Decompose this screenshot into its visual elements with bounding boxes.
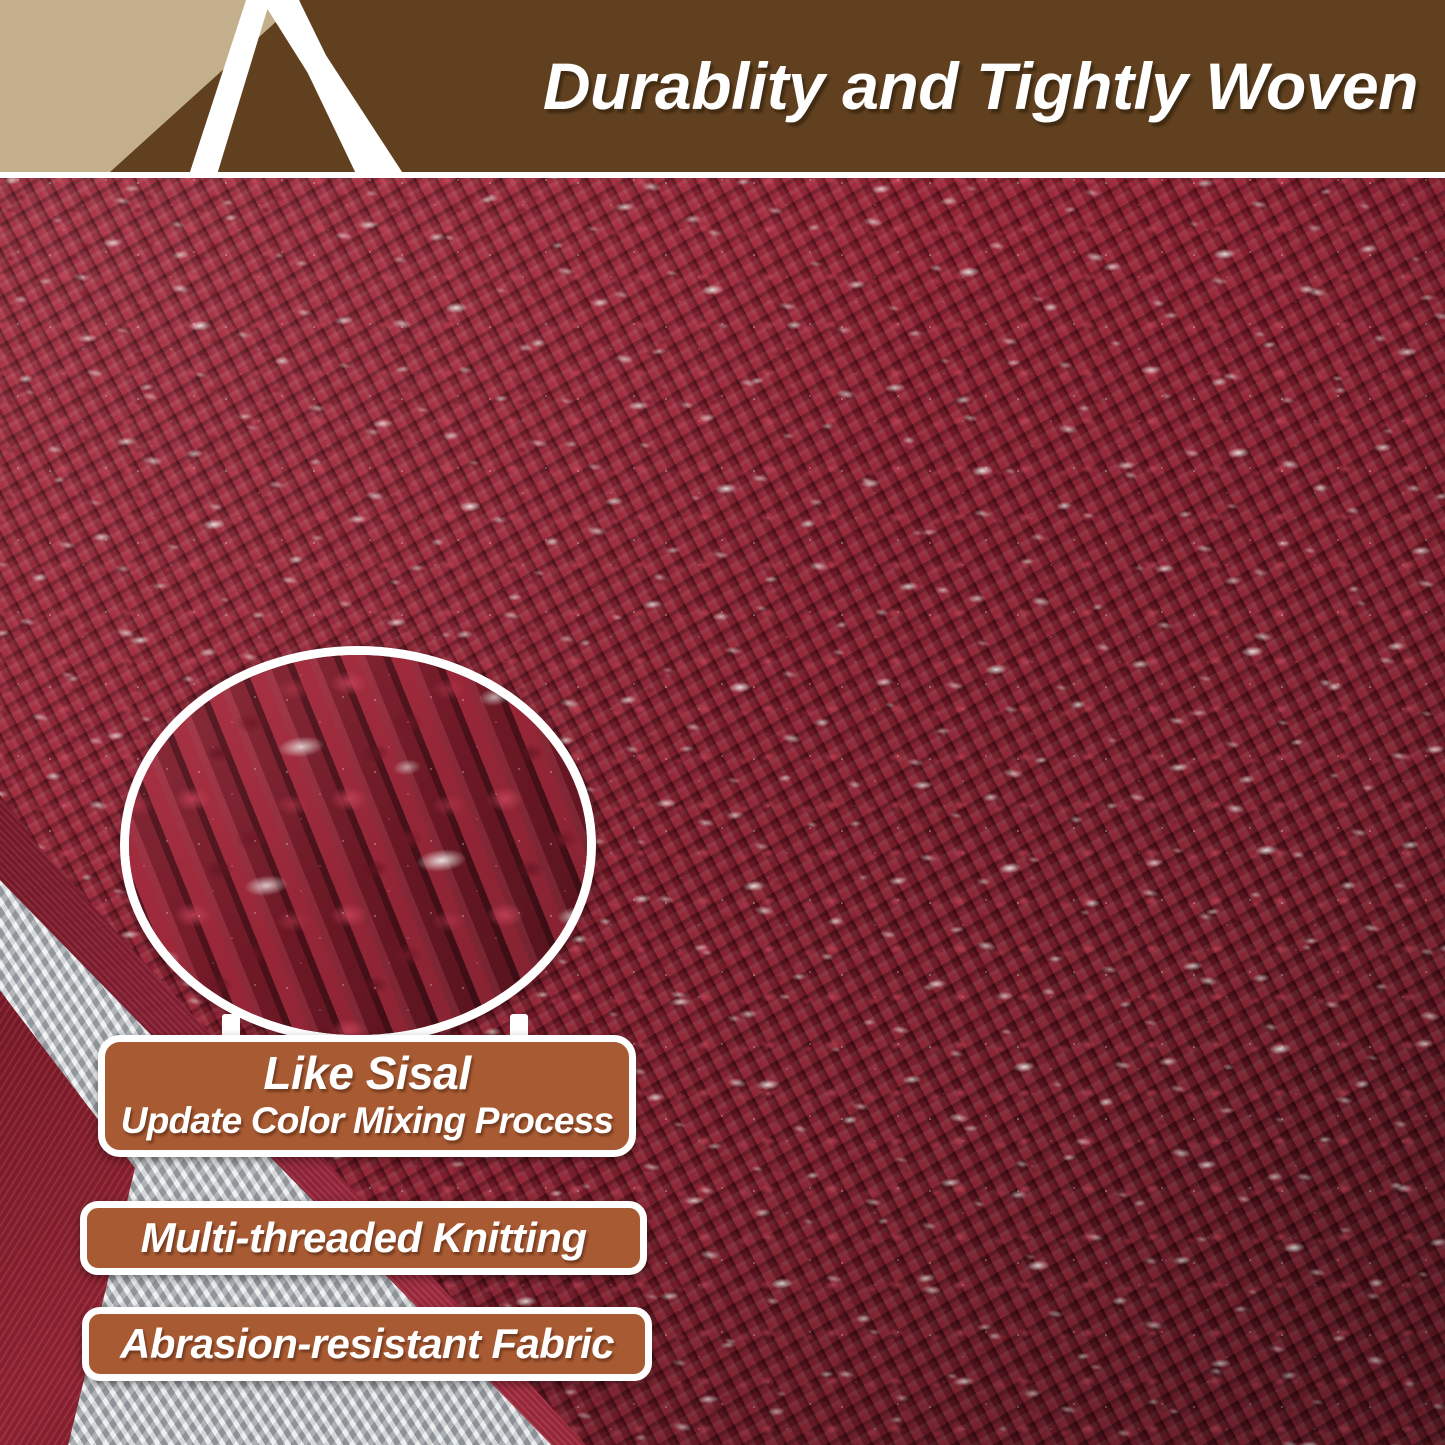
feature-badge-abrasion-resistant-fabric[interactable]: Abrasion-resistant Fabric <box>82 1307 652 1381</box>
badge-title: Like Sisal <box>263 1050 470 1096</box>
badge-title: Abrasion-resistant Fabric <box>120 1323 614 1365</box>
badge-subtitle: Update Color Mixing Process <box>121 1102 613 1139</box>
zoom-detail-content <box>120 646 596 1044</box>
product-photo: Like Sisal Update Color Mixing Process M… <box>0 178 1445 1445</box>
feature-badge-like-sisal[interactable]: Like Sisal Update Color Mixing Process <box>98 1035 636 1157</box>
zoom-sparkle-highlights <box>120 646 596 1044</box>
badge-title: Multi-threaded Knitting <box>141 1217 587 1259</box>
product-feature-image: Durablity and Tightly Woven <box>0 0 1445 1445</box>
page-title: Durablity and Tightly Woven <box>430 0 1430 172</box>
mountain-m-logo <box>120 0 450 172</box>
header-banner: Durablity and Tightly Woven <box>0 0 1445 172</box>
zoom-detail-circle <box>120 646 596 1044</box>
feature-badge-multi-threaded-knitting[interactable]: Multi-threaded Knitting <box>80 1201 647 1275</box>
